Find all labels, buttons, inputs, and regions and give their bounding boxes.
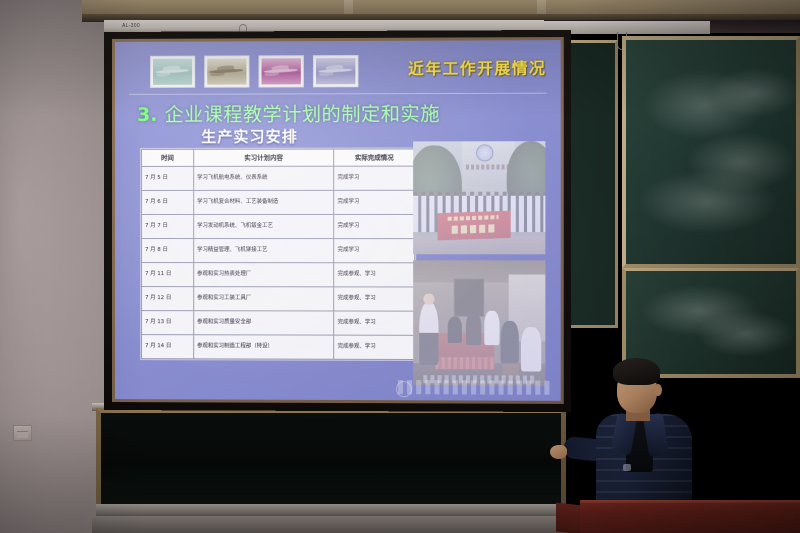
cell-plan: 参观和实习质量安全部 [193,311,334,335]
projection-screen[interactable]: 近年工作开展情况 3. 企业课程教学计划的制定和实施 生产实习安排 时间 实习计… [104,30,571,412]
jacket-logo-icon [623,464,631,471]
table-row: 7 月 6 日学习飞机复合材料、工艺装备制造完成学习 [142,190,415,214]
slide-subheading: 生产实习安排 [201,126,298,147]
table-row: 7 月 11 日参观和实习热表处理厂完成参观、学习 [142,263,415,287]
cell-status: 完成参观、学习 [334,287,415,311]
cell-time: 7 月 8 日 [142,239,194,263]
cell-time: 7 月 5 日 [142,166,194,190]
cell-time: 7 月 6 日 [142,190,194,214]
aircraft-thumb-2 [205,56,248,86]
chalkboard-below-screen [96,408,566,512]
cell-status: 完成学习 [334,214,415,238]
table-row: 7 月 5 日学习飞机航电系统、仪表系统完成学习 [142,166,415,190]
school-emblem-icon [476,144,493,161]
classroom-photo: AL-300 [0,0,800,533]
indoor-meeting-photo [413,260,545,385]
cell-plan: 学习发动机系统、飞机钣金工艺 [193,214,334,238]
cell-status: 完成学习 [334,190,415,214]
aircraft-thumb-1 [151,57,194,87]
aircraft-thumb-3 [260,56,303,86]
wall-left-shading [0,0,104,533]
internship-schedule-table: 时间 实习计划内容 实际完成情况 7 月 5 日学习飞机航电系统、仪表系统完成学… [141,148,415,360]
chalkboard-right-upper [622,36,800,268]
wall-below-board [92,516,612,533]
slide-heading: 3. 企业课程教学计划的制定和实施 [137,99,440,127]
light-switch[interactable] [13,425,32,441]
cell-status: 完成学习 [334,239,415,263]
aircraft-silhouette-icon [318,69,353,74]
presentation-slide: 近年工作开展情况 3. 企业课程教学计划的制定和实施 生产实习安排 时间 实习计… [115,40,561,401]
cell-time: 7 月 13 日 [142,311,194,335]
column-header-time: 时间 [142,149,194,166]
projector-label: AL-300 [122,23,140,29]
table-row: 7 月 7 日学习发动机系统、飞机钣金工艺完成学习 [142,214,415,238]
cell-status: 完成参观、学习 [334,311,415,335]
aircraft-silhouette-icon [209,69,244,74]
cell-time: 7 月 14 日 [142,335,194,359]
column-header-status: 实际完成情况 [334,149,415,166]
cell-status: 完成参观、学习 [334,335,415,359]
red-banner [437,211,510,241]
slide-divider [129,93,546,95]
slide-watermark [398,380,551,395]
group-photo-banner [413,141,545,254]
aircraft-thumb-4 [314,56,357,86]
table-header-row: 时间 实习计划内容 实际完成情况 [142,149,415,166]
aircraft-silhouette-icon [264,69,299,74]
cell-time: 7 月 11 日 [142,263,194,287]
cell-plan: 学习精益管理、飞机铆接工艺 [193,239,334,263]
cell-plan: 学习飞机复合材料、工艺装备制造 [193,190,334,214]
podium[interactable] [580,503,800,533]
slide-heading-number: 3. [137,104,157,126]
presenter-hand [550,445,567,459]
table-row: 7 月 12 日参观和实习工装工具厂完成参观、学习 [142,287,415,312]
aircraft-thumbnail-row [151,56,357,87]
podium-side [556,503,582,533]
table-row: 7 月 14 日参观和实习制造工程部（特设）完成参观、学习 [142,335,415,360]
cell-status: 完成参观、学习 [334,263,415,287]
presenter-ear [654,384,662,396]
presenter-hair [613,358,660,385]
aircraft-silhouette-icon [155,69,190,74]
slide-banner-title: 近年工作开展情况 [408,56,546,79]
cell-plan: 参观和实习工装工具厂 [193,287,334,311]
cell-plan: 参观和实习制造工程部（特设） [193,335,334,359]
cell-status: 完成学习 [334,166,415,190]
cell-plan: 学习飞机航电系统、仪表系统 [193,166,334,190]
cell-time: 7 月 12 日 [142,287,194,311]
slide-heading-text: 企业课程教学计划的制定和实施 [165,99,440,127]
table-row: 7 月 8 日学习精益管理、飞机铆接工艺完成学习 [142,239,415,263]
column-header-plan: 实习计划内容 [193,149,334,166]
table-row: 7 月 13 日参观和实习质量安全部完成参观、学习 [142,311,415,336]
cell-plan: 参观和实习热表处理厂 [193,263,334,287]
cell-time: 7 月 7 日 [142,214,194,238]
